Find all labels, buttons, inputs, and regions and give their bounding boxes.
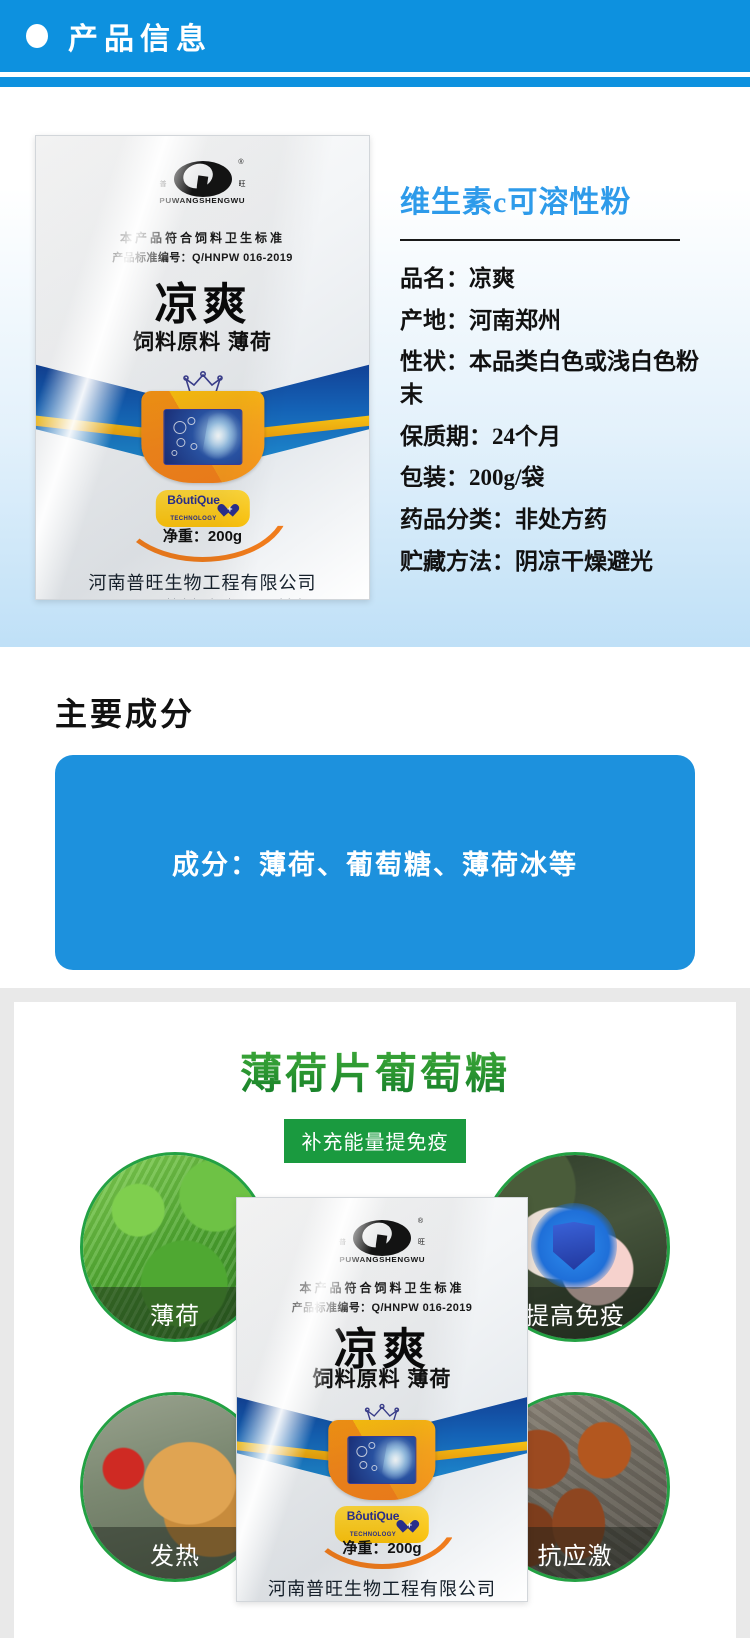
package-window-graphic [163, 409, 242, 465]
boutique-technology-badge: BôutiQue TECHNOLOGY + [155, 490, 249, 527]
dot-icon [26, 24, 48, 48]
registered-mark: ® [418, 1218, 423, 1225]
standard-line-2: 产品标准编号：Q/HNPW 016-2019 [36, 249, 369, 265]
heart-plus-icon: + [223, 501, 238, 515]
ingredients-text: 成分：薄荷、葡萄糖、薄荷冰等 [172, 843, 578, 882]
section-header-product-info: 产品信息 [0, 0, 750, 72]
spec-row: 产地：河南郑州 [400, 305, 720, 338]
logo-right-char: 旺 [418, 1237, 425, 1247]
brand-logo: ® 普 旺 PUWANGSHENGWU [237, 1220, 527, 1264]
product-title: 维生素c可溶性粉 [400, 177, 750, 221]
package-shield-emblem [328, 1420, 435, 1501]
spec-row: 性状：本品类白色或浅白色粉末 [400, 346, 720, 411]
brand-logo: ® 普 旺 PUWANGSHENGWU [36, 161, 369, 205]
swirl-logo-icon: ® 普 旺 [174, 161, 232, 197]
promo-tag-badge: 补充能量提免疫 [284, 1119, 466, 1163]
company-name-cn: 河南普旺生物工程有限公司 [36, 569, 369, 595]
product-package-image: ® 普 旺 PUWANGSHENGWU 本产品符合饲料卫生标准 产品标准编号：Q… [236, 1197, 528, 1602]
logo-pinyin-text: PUWANGSHENGWU [160, 198, 246, 205]
product-spec-column: 维生素c可溶性粉 品名：凉爽 产地：河南郑州 性状：本品类白色或浅白色粉末 保质… [400, 87, 750, 647]
spec-row: 药品分类：非处方药 [400, 504, 720, 537]
standard-line-1: 本产品符合饲料卫生标准 [36, 229, 369, 246]
spec-row: 保质期：24个月 [400, 421, 720, 454]
package-product-subtitle: 饲料原料 薄荷 [237, 1363, 527, 1393]
badge-line-1: BôutiQue [167, 493, 219, 507]
logo-pinyin-text: PUWANGSHENGWU [339, 1257, 425, 1264]
logo-left-char: 普 [339, 1237, 346, 1247]
package-net-weight: 净重：200g [36, 525, 369, 546]
spec-row: 贮藏方法：阴凉干燥避光 [400, 546, 720, 579]
package-product-subtitle: 饲料原料 薄荷 [36, 326, 369, 356]
promo-section-wrapper: 薄荷片葡萄糖 补充能量提免疫 薄荷 提高免疫 发热 抗应激 [0, 988, 750, 1638]
promo-package-image-holder: ® 普 旺 PUWANGSHENGWU 本产品符合饲料卫生标准 产品标准编号：Q… [236, 1197, 528, 1602]
package-shield-emblem [141, 391, 264, 484]
package-standard-text: 本产品符合饲料卫生标准 产品标准编号：Q/HNPW 016-2019 [36, 229, 369, 265]
package-image-column: ® 普 旺 PUWANGSHENGWU 本产品符合饲料卫生标准 产品标准编号：Q… [0, 87, 400, 647]
package-standard-text: 本产品符合饲料卫生标准 产品标准编号：Q/HNPW 016-2019 [237, 1279, 527, 1315]
spec-row: 包装：200g/袋 [400, 462, 720, 495]
package-product-name: 凉爽 [36, 268, 369, 332]
logo-left-char: 普 [160, 179, 167, 189]
header-underline-bar [0, 77, 750, 87]
registered-mark: ® [238, 159, 243, 166]
package-company-block: 河南普旺生物工程有限公司 Henan Pu Wang Biological En… [36, 569, 369, 600]
product-info-panel: ® 普 旺 PUWANGSHENGWU 本产品符合饲料卫生标准 产品标准编号：Q… [0, 87, 750, 647]
page-title: 产品信息 [68, 14, 212, 58]
promo-title: 薄荷片葡萄糖 [14, 1040, 736, 1101]
package-net-weight: 净重：200g [237, 1537, 527, 1558]
company-name-cn: 河南普旺生物工程有限公司 [237, 1575, 527, 1601]
main-ingredients-section: 主要成分 成分：薄荷、葡萄糖、薄荷冰等 [0, 647, 750, 988]
badge-line-1: BôutiQue [347, 1509, 399, 1523]
product-package-image: ® 普 旺 PUWANGSHENGWU 本产品符合饲料卫生标准 产品标准编号：Q… [35, 135, 370, 600]
package-window-graphic [348, 1436, 417, 1484]
badge-line-2: TECHNOLOGY [170, 516, 216, 522]
swirl-logo-icon: ® 普 旺 [353, 1220, 411, 1256]
standard-line-1: 本产品符合饲料卫生标准 [237, 1279, 527, 1296]
ingredients-box: 成分：薄荷、葡萄糖、薄荷冰等 [55, 755, 695, 970]
shield-icon [531, 1203, 617, 1289]
company-name-en: Henan Pu Wang Biological Engineering Com… [36, 597, 369, 600]
product-detail-page: 产品信息 ® 普 旺 PUWANGSHENGWU 本 [0, 0, 750, 1638]
package-company-block: 河南普旺生物工程有限公司 Henan Pu Wang Biological En… [237, 1575, 527, 1602]
logo-right-char: 旺 [239, 179, 246, 189]
title-divider [400, 239, 680, 241]
spec-row: 品名：凉爽 [400, 263, 720, 296]
ingredients-heading: 主要成分 [55, 689, 750, 735]
promo-banner: 薄荷片葡萄糖 补充能量提免疫 薄荷 提高免疫 发热 抗应激 [14, 1002, 736, 1638]
heart-plus-icon: + [402, 1517, 417, 1531]
